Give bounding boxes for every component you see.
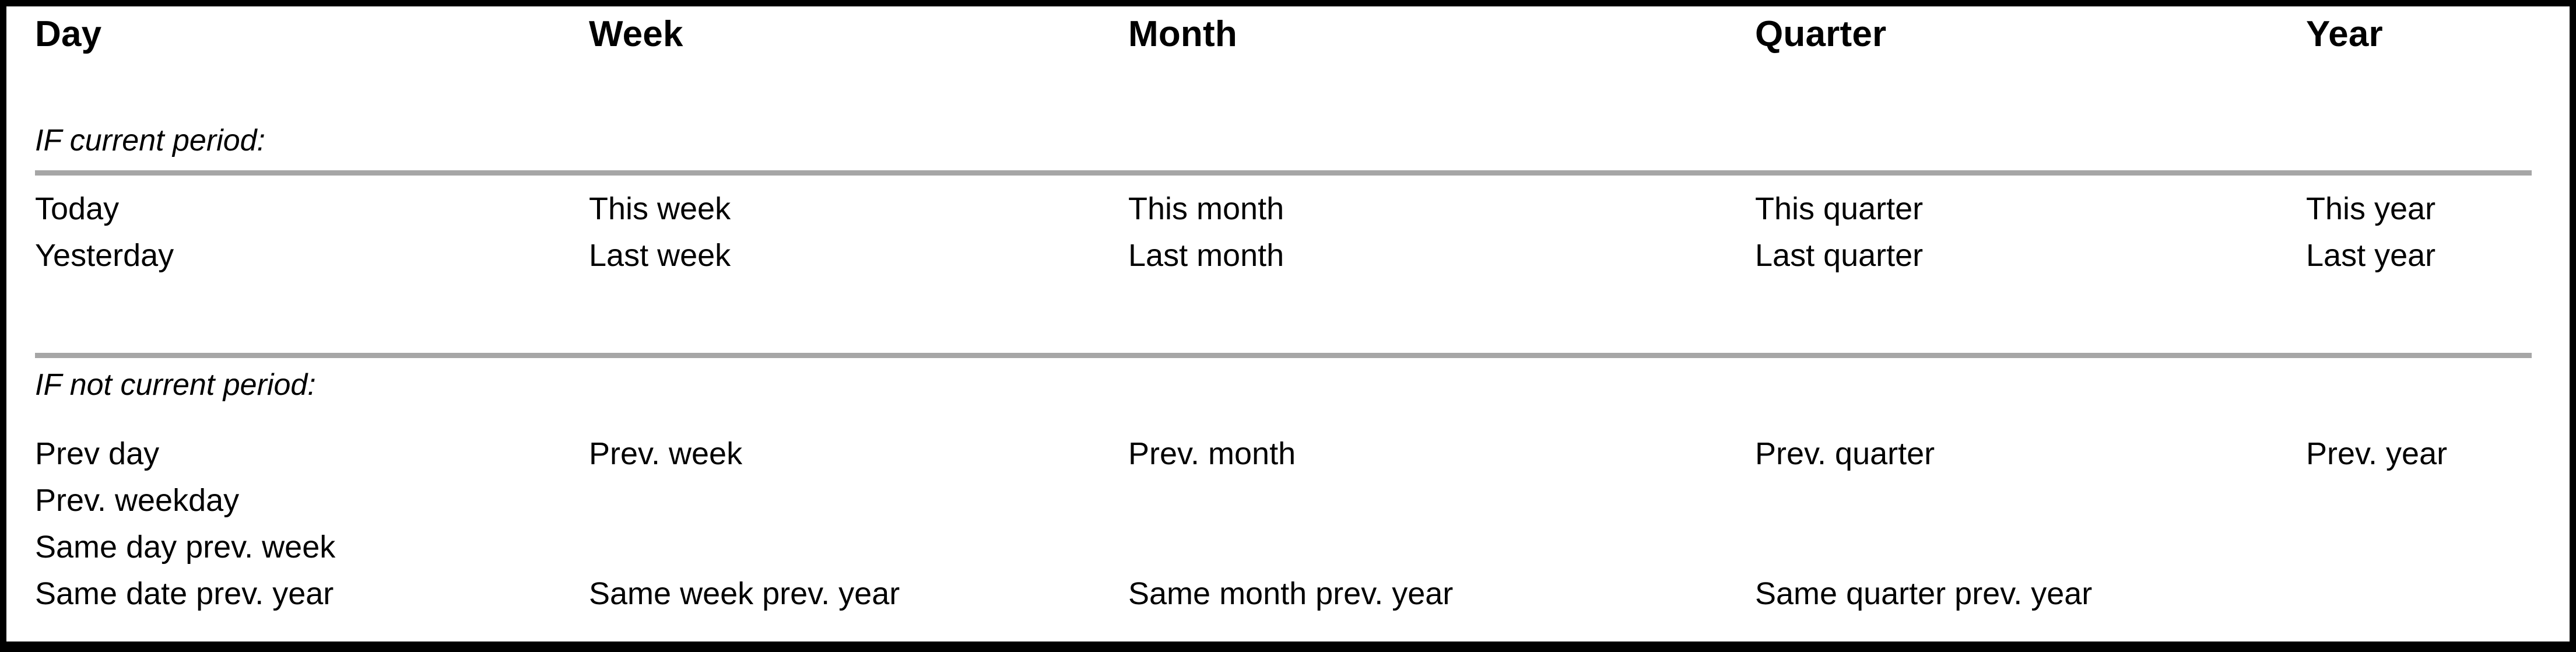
section-divider-middle [35,353,2532,358]
cell-current-day-today: Today [35,193,119,225]
cell-current-week-this-week: This week [589,193,731,225]
cell-notcurrent-day-same-day-prev-week: Same day prev. week [35,531,335,563]
cell-notcurrent-quarter-same-quarter-prev-year: Same quarter prev. year [1755,578,2092,609]
column-header-month: Month [1128,16,1237,52]
cell-notcurrent-day-prev-day: Prev day [35,438,159,469]
cell-current-year-last-year: Last year [2306,240,2435,271]
cell-notcurrent-month-prev-month: Prev. month [1128,438,1296,469]
cell-current-day-yesterday: Yesterday [35,240,174,271]
column-header-year: Year [2306,16,2383,52]
cell-notcurrent-day-same-date-prev-year: Same date prev. year [35,578,334,609]
cell-current-quarter-this-quarter: This quarter [1755,193,1923,225]
cell-notcurrent-quarter-prev-quarter: Prev. quarter [1755,438,1935,469]
column-header-week: Week [589,16,683,52]
comparison-period-table: Day Week Month Quarter Year IF current p… [6,6,2570,642]
cell-current-year-this-year: This year [2306,193,2435,225]
column-header-day: Day [35,16,101,52]
cell-notcurrent-month-same-month-prev-year: Same month prev. year [1128,578,1453,609]
cell-notcurrent-week-same-week-prev-year: Same week prev. year [589,578,900,609]
cell-notcurrent-year-prev-year: Prev. year [2306,438,2447,469]
cell-notcurrent-week-prev-week: Prev. week [589,438,742,469]
cell-current-week-last-week: Last week [589,240,731,271]
section-divider-top [35,170,2532,176]
table-frame: Day Week Month Quarter Year IF current p… [0,0,2576,652]
cell-current-quarter-last-quarter: Last quarter [1755,240,1923,271]
section-label-current-period: IF current period: [35,125,265,156]
column-header-quarter: Quarter [1755,16,1886,52]
section-label-not-current-period: IF not current period: [35,370,316,400]
cell-notcurrent-day-prev-weekday: Prev. weekday [35,485,239,516]
cell-current-month-last-month: Last month [1128,240,1284,271]
cell-current-month-this-month: This month [1128,193,1284,225]
